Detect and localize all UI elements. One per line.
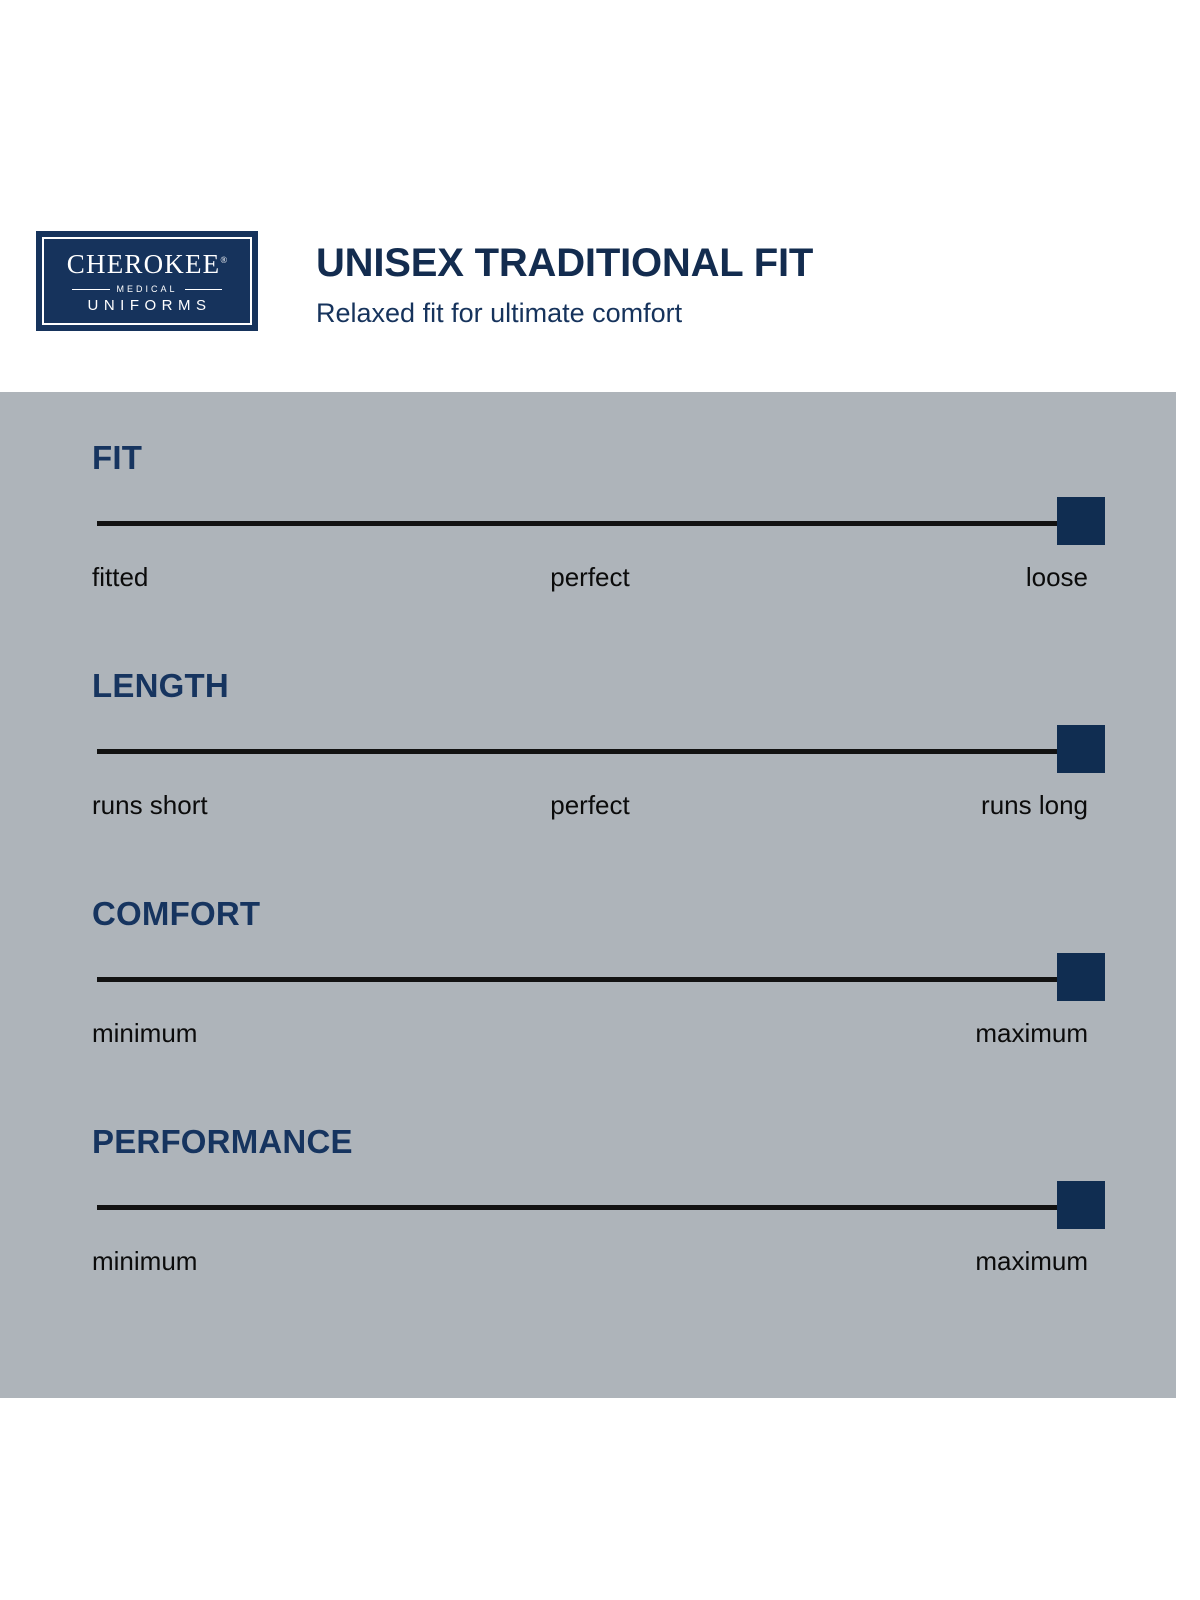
logo-rule-left-icon [72,289,110,290]
logo-bottom-text: UNIFORMS [83,298,212,313]
fit-scales-panel: FIT fitted perfect loose LENGTH runs sho… [0,392,1176,1398]
slider-marker-performance[interactable] [1057,1181,1105,1229]
fit-guide-page: CHEROKEE® MEDICAL UNIFORMS UNISEX TRADIT… [0,0,1200,1600]
scale-label-fit-middle: perfect [550,561,630,594]
slider-marker-comfort[interactable] [1057,953,1105,1001]
metric-fit: FIT fitted perfect loose [92,441,1092,595]
scale-labels-length: runs short perfect runs long [92,789,1088,823]
scale-labels-performance: minimum maximum [92,1245,1088,1279]
slider-track-fit [97,521,1060,526]
slider-track-length [97,749,1060,754]
logo-middle-row: MEDICAL [72,284,222,294]
slider-length[interactable] [92,725,1088,777]
slider-marker-fit[interactable] [1057,497,1105,545]
scale-label-performance-right: maximum [975,1245,1088,1278]
scale-labels-fit: fitted perfect loose [92,561,1088,595]
metric-label-fit: FIT [92,441,1092,474]
scale-label-length-left: runs short [92,789,208,822]
metric-performance: PERFORMANCE minimum maximum [92,1125,1092,1279]
scale-label-comfort-left: minimum [92,1017,197,1050]
metric-label-length: LENGTH [92,669,1092,702]
scale-label-length-middle: perfect [550,789,630,822]
scale-label-comfort-right: maximum [975,1017,1088,1050]
logo-inner-frame: CHEROKEE® MEDICAL UNIFORMS [42,237,252,325]
logo-brand-name-text: CHEROKEE [67,249,221,279]
logo-brand-name: CHEROKEE® [67,251,227,278]
logo-middle-text: MEDICAL [110,284,185,294]
scale-label-fit-left: fitted [92,561,148,594]
metric-label-comfort: COMFORT [92,897,1092,930]
cherokee-medical-uniforms-logo: CHEROKEE® MEDICAL UNIFORMS [36,231,258,331]
slider-track-comfort [97,977,1060,982]
metric-comfort: COMFORT minimum maximum [92,897,1092,1051]
slider-performance[interactable] [92,1181,1088,1233]
page-title: UNISEX TRADITIONAL FIT [316,243,813,283]
slider-track-performance [97,1205,1060,1210]
slider-comfort[interactable] [92,953,1088,1005]
scale-label-performance-left: minimum [92,1245,197,1278]
scale-label-fit-right: loose [1026,561,1088,594]
slider-fit[interactable] [92,497,1088,549]
slider-marker-length[interactable] [1057,725,1105,773]
logo-rule-right-icon [185,289,223,290]
header: CHEROKEE® MEDICAL UNIFORMS UNISEX TRADIT… [0,0,1200,392]
page-subtitle: Relaxed fit for ultimate comfort [316,300,682,327]
metric-length: LENGTH runs short perfect runs long [92,669,1092,823]
scale-label-length-right: runs long [981,789,1088,822]
scale-labels-comfort: minimum maximum [92,1017,1088,1051]
metric-label-performance: PERFORMANCE [92,1125,1092,1158]
registered-trademark-icon: ® [220,255,227,265]
